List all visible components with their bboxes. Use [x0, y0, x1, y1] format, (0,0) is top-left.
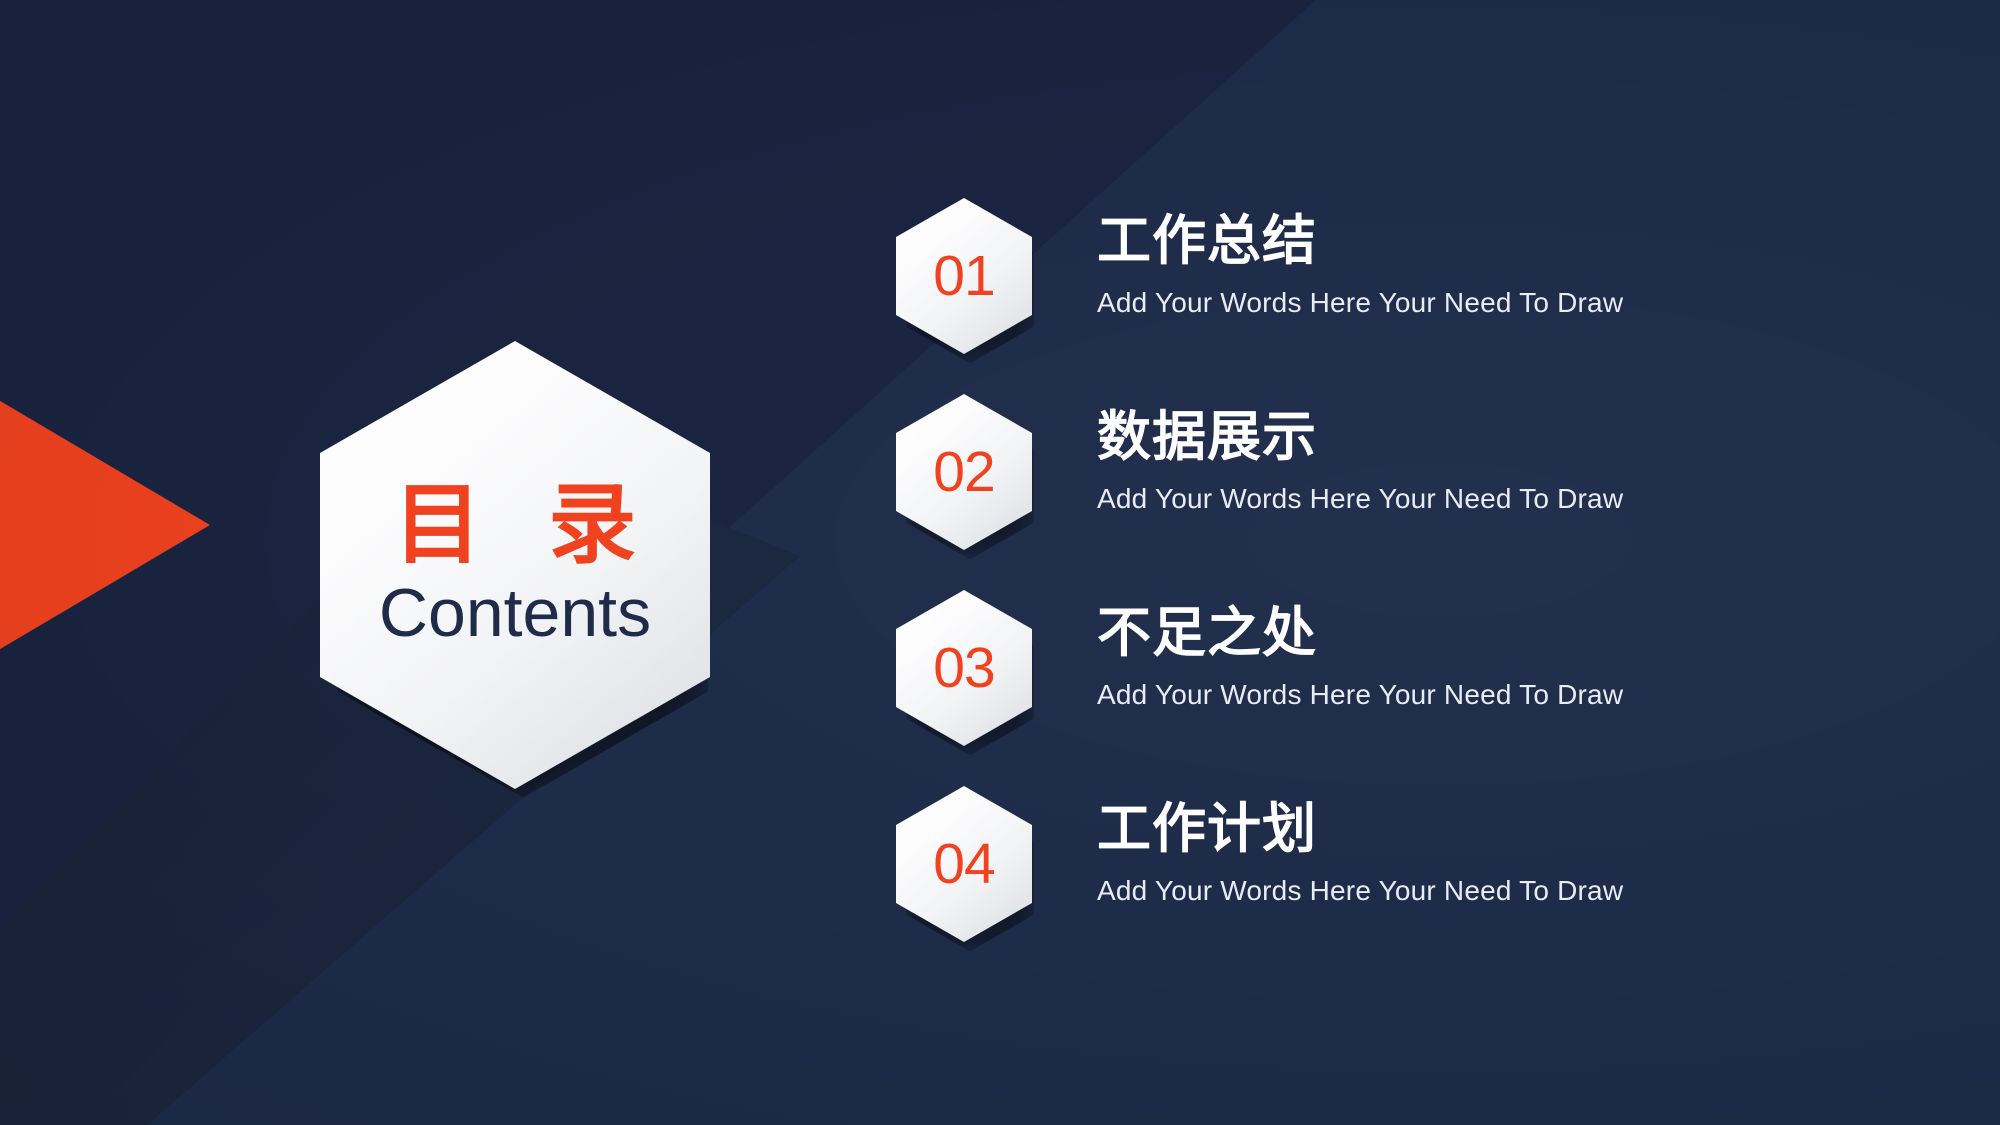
item-number-label: 01: [933, 248, 994, 305]
agenda-item-list: 01 工作总结 Add Your Words Here Your Need To…: [896, 196, 1896, 980]
item-title: 工作总结: [1097, 212, 1623, 270]
item-number-label: 02: [933, 444, 994, 501]
contents-title-chinese: 目 录: [376, 480, 655, 570]
item-subtitle: Add Your Words Here Your Need To Draw: [1097, 482, 1623, 516]
item-subtitle: Add Your Words Here Your Need To Draw: [1097, 678, 1623, 712]
contents-hexagon-content: 目 录 Contents: [320, 341, 710, 789]
contents-hexagon: 目 录 Contents: [320, 341, 710, 789]
item-number-label: 04: [933, 836, 994, 893]
item-number-hexagon: 01: [896, 198, 1032, 354]
item-title: 工作计划: [1097, 800, 1623, 858]
item-subtitle: Add Your Words Here Your Need To Draw: [1097, 286, 1623, 320]
item-number-hexagon: 03: [896, 590, 1032, 746]
item-number-hexagon: 04: [896, 786, 1032, 942]
item-text-block: 工作计划 Add Your Words Here Your Need To Dr…: [1097, 784, 1623, 908]
item-subtitle: Add Your Words Here Your Need To Draw: [1097, 874, 1623, 908]
item-number-hexagon: 02: [896, 394, 1032, 550]
item-title: 不足之处: [1097, 604, 1623, 662]
list-item[interactable]: 04 工作计划 Add Your Words Here Your Need To…: [896, 784, 1896, 980]
item-title: 数据展示: [1097, 408, 1623, 466]
item-number-label: 03: [933, 640, 994, 697]
orange-triangle-shape: [0, 265, 210, 785]
item-text-block: 不足之处 Add Your Words Here Your Need To Dr…: [1097, 588, 1623, 712]
item-text-block: 数据展示 Add Your Words Here Your Need To Dr…: [1097, 392, 1623, 516]
contents-title-english: Contents: [379, 578, 651, 649]
list-item[interactable]: 02 数据展示 Add Your Words Here Your Need To…: [896, 392, 1896, 588]
item-text-block: 工作总结 Add Your Words Here Your Need To Dr…: [1097, 196, 1623, 320]
list-item[interactable]: 03 不足之处 Add Your Words Here Your Need To…: [896, 588, 1896, 784]
list-item[interactable]: 01 工作总结 Add Your Words Here Your Need To…: [896, 196, 1896, 392]
slide-canvas: 目 录 Contents 01 工作总结 Add Your Words Here…: [0, 0, 2000, 1125]
